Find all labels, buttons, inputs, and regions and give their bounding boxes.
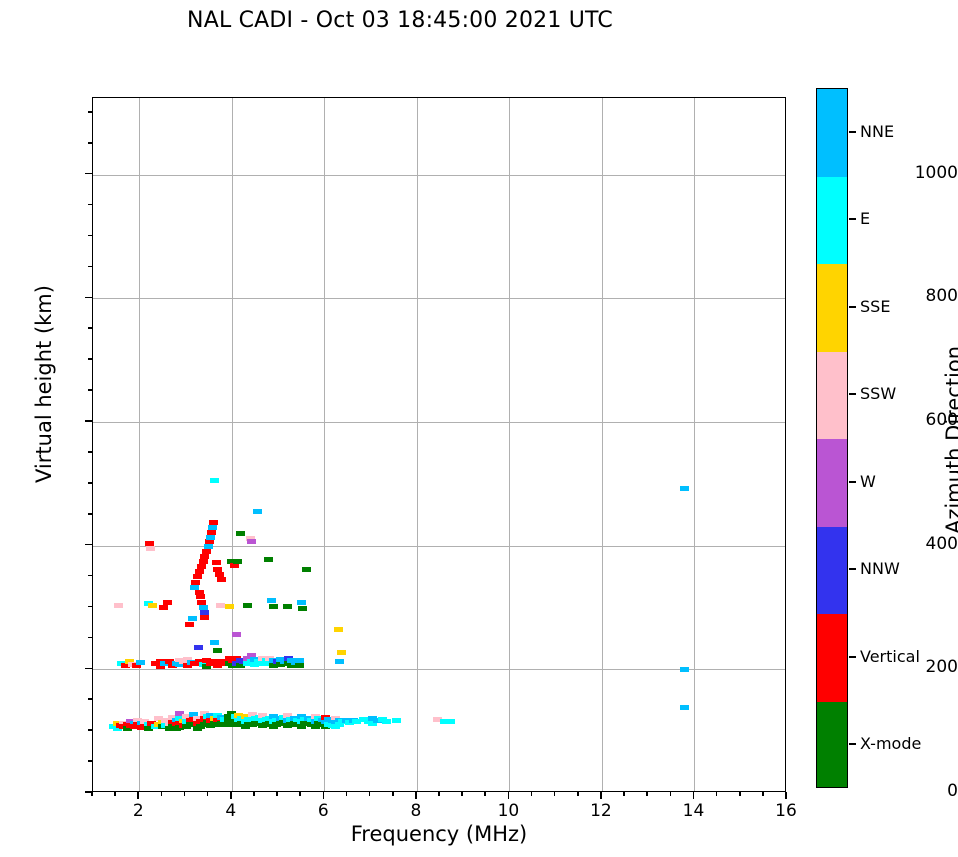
data-point <box>264 557 273 562</box>
data-point <box>136 660 145 665</box>
colorbar-tick <box>849 306 856 308</box>
colorbar-label-w: W <box>860 472 876 491</box>
x-tick-minor <box>253 792 255 796</box>
data-point <box>232 632 241 637</box>
x-tick-major <box>785 792 787 799</box>
data-point <box>392 718 401 723</box>
y-tick-minor <box>88 698 92 700</box>
y-tick-major <box>85 297 92 299</box>
data-point <box>213 648 222 653</box>
x-tick-major <box>323 792 325 799</box>
data-point <box>207 530 216 535</box>
data-point <box>191 580 200 585</box>
data-point <box>337 650 346 655</box>
data-point <box>204 544 213 549</box>
gridline-horizontal <box>93 422 785 423</box>
gridline-vertical <box>694 98 695 791</box>
data-point <box>267 598 276 603</box>
y-tick-minor <box>88 266 92 268</box>
colorbar-segment-e <box>817 177 847 265</box>
x-tick-minor <box>299 792 301 796</box>
y-tick-major <box>85 668 92 670</box>
data-point <box>236 531 245 536</box>
x-tick-minor <box>554 792 556 796</box>
y-tick-minor <box>88 389 92 391</box>
gridline-vertical <box>417 98 418 791</box>
x-tick-minor <box>762 792 764 796</box>
y-tick-label: 0 <box>884 781 958 801</box>
x-tick-minor <box>346 792 348 796</box>
data-point <box>193 574 202 579</box>
colorbar-tick <box>849 218 856 220</box>
x-tick-minor <box>716 792 718 796</box>
x-tick-label: 10 <box>478 801 538 821</box>
x-axis-label: Frequency (MHz) <box>92 822 786 846</box>
data-point <box>253 509 262 514</box>
data-point <box>210 640 219 645</box>
data-point <box>233 559 242 564</box>
data-point <box>209 520 218 525</box>
gridline-vertical <box>602 98 603 791</box>
y-tick-major <box>85 173 92 175</box>
x-tick-minor <box>438 792 440 796</box>
x-tick-minor <box>161 792 163 796</box>
data-point <box>225 604 234 609</box>
data-point <box>302 567 311 572</box>
data-point <box>163 600 172 605</box>
y-tick-minor <box>88 760 92 762</box>
data-point <box>210 478 219 483</box>
x-tick-minor <box>484 792 486 796</box>
data-point <box>194 645 203 650</box>
colorbar-label-ssw: SSW <box>860 384 896 403</box>
y-tick-minor <box>88 637 92 639</box>
data-point <box>216 603 225 608</box>
data-point <box>195 569 204 574</box>
gridline-vertical <box>232 98 233 791</box>
x-tick-minor <box>670 792 672 796</box>
data-point <box>247 539 256 544</box>
plot-area <box>92 97 786 792</box>
data-point <box>212 560 221 565</box>
colorbar-tick <box>849 481 856 483</box>
colorbar-segment-x-mode <box>817 702 847 789</box>
y-tick-minor <box>88 204 92 206</box>
data-point <box>382 719 391 724</box>
colorbar-label-e: E <box>860 209 870 228</box>
x-tick-minor <box>392 792 394 796</box>
colorbar-label: Azimuth Direction <box>942 270 958 610</box>
data-point <box>146 546 155 551</box>
x-tick-label: 16 <box>756 801 816 821</box>
data-point <box>335 659 344 664</box>
data-point <box>196 594 205 599</box>
y-tick-minor <box>88 729 92 731</box>
colorbar-tick <box>849 743 856 745</box>
data-point <box>188 616 197 621</box>
data-point <box>159 605 168 610</box>
data-point <box>269 604 278 609</box>
colorbar-segment-vertical <box>817 614 847 702</box>
colorbar-tick <box>849 656 856 658</box>
x-tick-minor <box>739 792 741 796</box>
x-tick-major <box>508 792 510 799</box>
data-point <box>680 667 689 672</box>
colorbar-tick <box>849 131 856 133</box>
data-point <box>680 486 689 491</box>
data-point <box>298 606 307 611</box>
ionogram-figure: NAL CADI - Oct 03 18:45:00 2021 UTC 0200… <box>0 0 958 857</box>
y-tick-minor <box>88 142 92 144</box>
colorbar-segment-nnw <box>817 527 847 615</box>
x-tick-minor <box>369 792 371 796</box>
y-tick-minor <box>88 606 92 608</box>
data-point <box>283 604 292 609</box>
x-tick-major <box>230 792 232 799</box>
x-tick-minor <box>531 792 533 796</box>
colorbar-segment-sse <box>817 264 847 352</box>
y-tick-minor <box>88 575 92 577</box>
colorbar-label-sse: SSE <box>860 297 890 316</box>
x-tick-minor <box>623 792 625 796</box>
data-point <box>295 663 304 668</box>
colorbar-label-vertical: Vertical <box>860 647 920 666</box>
data-point <box>200 554 209 559</box>
colorbar <box>816 88 848 788</box>
colorbar-segment-ssw <box>817 352 847 440</box>
data-point <box>199 559 208 564</box>
gridline-horizontal <box>93 546 785 547</box>
y-tick-minor <box>88 482 92 484</box>
gridline-vertical <box>509 98 510 791</box>
y-tick-minor <box>88 358 92 360</box>
gridline-vertical <box>324 98 325 791</box>
x-tick-minor <box>114 792 116 796</box>
data-point <box>446 719 455 724</box>
colorbar-tick <box>849 393 856 395</box>
colorbar-segment-w <box>817 439 847 527</box>
colorbar-tick <box>849 568 856 570</box>
y-tick-minor <box>88 513 92 515</box>
x-tick-minor <box>646 792 648 796</box>
x-tick-major <box>415 792 417 799</box>
x-tick-minor <box>461 792 463 796</box>
data-point <box>217 577 226 582</box>
data-point <box>208 525 217 530</box>
data-point <box>148 603 157 608</box>
y-tick-minor <box>88 111 92 113</box>
x-tick-minor <box>276 792 278 796</box>
x-tick-label: 4 <box>201 801 261 821</box>
data-point <box>297 600 306 605</box>
data-point <box>206 535 215 540</box>
data-point <box>200 615 209 620</box>
data-point <box>185 622 194 627</box>
gridline-horizontal <box>93 175 785 176</box>
x-tick-minor <box>91 792 93 796</box>
colorbar-label-nne: NNE <box>860 122 894 141</box>
x-tick-minor <box>184 792 186 796</box>
gridline-vertical <box>139 98 140 791</box>
y-tick-minor <box>88 327 92 329</box>
x-tick-minor <box>577 792 579 796</box>
data-point <box>334 627 343 632</box>
x-tick-major <box>137 792 139 799</box>
y-tick-major <box>85 420 92 422</box>
data-point <box>114 603 123 608</box>
x-tick-label: 12 <box>571 801 631 821</box>
y-tick-minor <box>88 235 92 237</box>
data-point <box>202 549 211 554</box>
data-point <box>205 539 214 544</box>
colorbar-label-x-mode: X-mode <box>860 734 921 753</box>
data-point <box>190 585 199 590</box>
y-tick-minor <box>88 451 92 453</box>
colorbar-label-nnw: NNW <box>860 559 900 578</box>
x-tick-label: 8 <box>386 801 446 821</box>
y-tick-major <box>85 544 92 546</box>
data-point <box>243 603 252 608</box>
x-tick-minor <box>207 792 209 796</box>
y-tick-label: 1000 <box>884 163 958 183</box>
colorbar-segment-nne <box>817 89 847 177</box>
gridline-horizontal <box>93 298 785 299</box>
x-tick-label: 2 <box>108 801 168 821</box>
chart-title: NAL CADI - Oct 03 18:45:00 2021 UTC <box>0 8 800 33</box>
x-tick-major <box>693 792 695 799</box>
y-axis-label: Virtual height (km) <box>32 214 56 554</box>
x-tick-label: 14 <box>663 801 723 821</box>
data-point <box>680 705 689 710</box>
x-tick-major <box>600 792 602 799</box>
x-tick-label: 6 <box>293 801 353 821</box>
data-point <box>197 564 206 569</box>
